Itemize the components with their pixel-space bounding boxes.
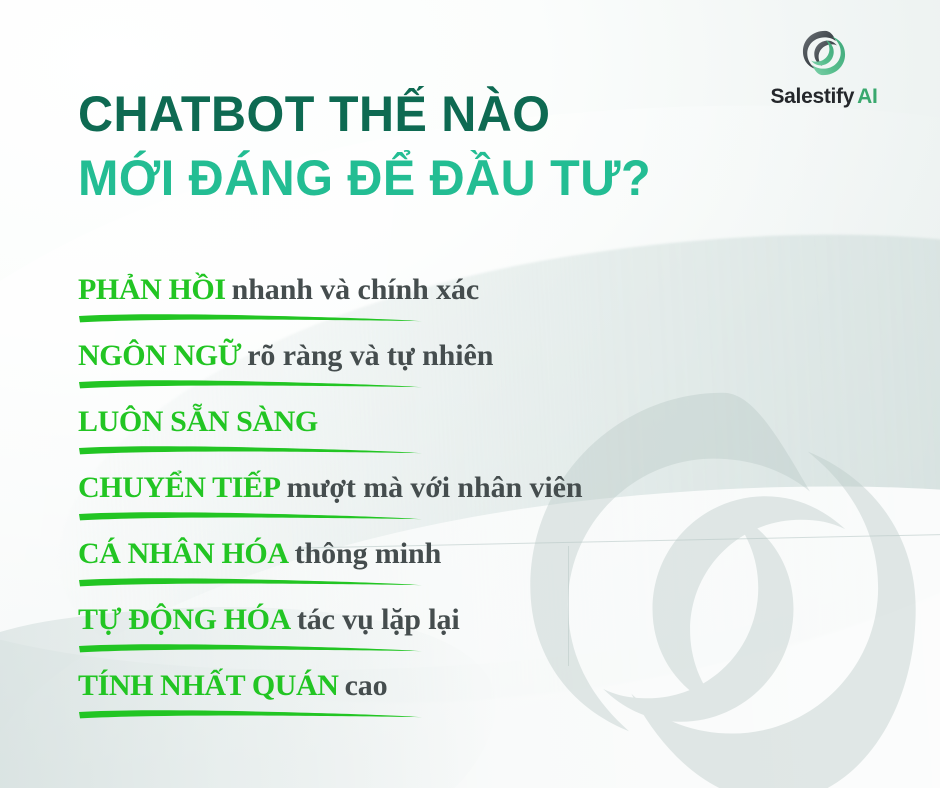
brand-name-accent: AI	[857, 85, 877, 108]
page-title: CHATBOT THẾ NÀO MỚI ĐÁNG ĐỂ ĐẦU TƯ?	[78, 82, 798, 210]
headline-line-1: CHATBOT THẾ NÀO	[78, 82, 776, 146]
benefit-text: TÍNH NHẤT QUÁNcao	[78, 670, 388, 702]
brush-underline-icon	[78, 576, 423, 590]
benefit-keyword: CÁ NHÂN HÓA	[78, 537, 289, 570]
brush-underline-icon	[78, 444, 423, 458]
benefit-text: LUÔN SẴN SÀNG	[78, 406, 324, 438]
list-item: NGÔN NGỮrõ ràng và tự nhiên	[78, 338, 878, 404]
benefit-detail: nhanh và chính xác	[232, 273, 479, 306]
list-item: LUÔN SẴN SÀNG	[78, 404, 878, 470]
headline-line-2: MỚI ĐÁNG ĐỂ ĐẦU TƯ?	[78, 146, 776, 210]
benefit-detail: mượt mà với nhân viên	[287, 471, 583, 504]
brush-underline-icon	[78, 378, 423, 392]
list-item: PHẢN HỒInhanh và chính xác	[78, 272, 878, 338]
benefit-keyword: TỰ ĐỘNG HÓA	[78, 603, 291, 636]
benefit-detail: tác vụ lặp lại	[297, 603, 460, 636]
brush-underline-icon	[78, 642, 423, 656]
benefit-list: PHẢN HỒInhanh và chính xác NGÔN NGỮrõ rà…	[78, 272, 878, 734]
brush-underline-icon	[78, 708, 423, 722]
list-item: TÍNH NHẤT QUÁNcao	[78, 668, 878, 734]
benefit-keyword: LUÔN SẴN SÀNG	[78, 405, 318, 438]
benefit-text: CHUYỂN TIẾPmượt mà với nhân viên	[78, 472, 582, 504]
benefit-detail: cao	[345, 669, 388, 702]
list-item: CÁ NHÂN HÓAthông minh	[78, 536, 878, 602]
brush-underline-icon	[78, 312, 423, 326]
benefit-text: CÁ NHÂN HÓAthông minh	[78, 538, 441, 570]
benefit-text: TỰ ĐỘNG HÓAtác vụ lặp lại	[78, 604, 460, 636]
brush-underline-icon	[78, 510, 423, 524]
list-item: CHUYỂN TIẾPmượt mà với nhân viên	[78, 470, 878, 536]
benefit-text: PHẢN HỒInhanh và chính xác	[78, 274, 479, 306]
list-item: TỰ ĐỘNG HÓAtác vụ lặp lại	[78, 602, 878, 668]
benefit-detail: thông minh	[295, 537, 442, 570]
salestify-s-swirl-icon	[797, 26, 851, 80]
benefit-keyword: NGÔN NGỮ	[78, 339, 241, 372]
benefit-keyword: PHẢN HỒI	[78, 273, 226, 306]
benefit-text: NGÔN NGỮrõ ràng và tự nhiên	[78, 340, 493, 372]
benefit-detail: rõ ràng và tự nhiên	[247, 339, 493, 372]
poster-canvas: SalestifyAI CHATBOT THẾ NÀO MỚI ĐÁNG ĐỂ …	[0, 0, 940, 788]
benefit-keyword: TÍNH NHẤT QUÁN	[78, 669, 339, 702]
benefit-keyword: CHUYỂN TIẾP	[78, 471, 281, 504]
